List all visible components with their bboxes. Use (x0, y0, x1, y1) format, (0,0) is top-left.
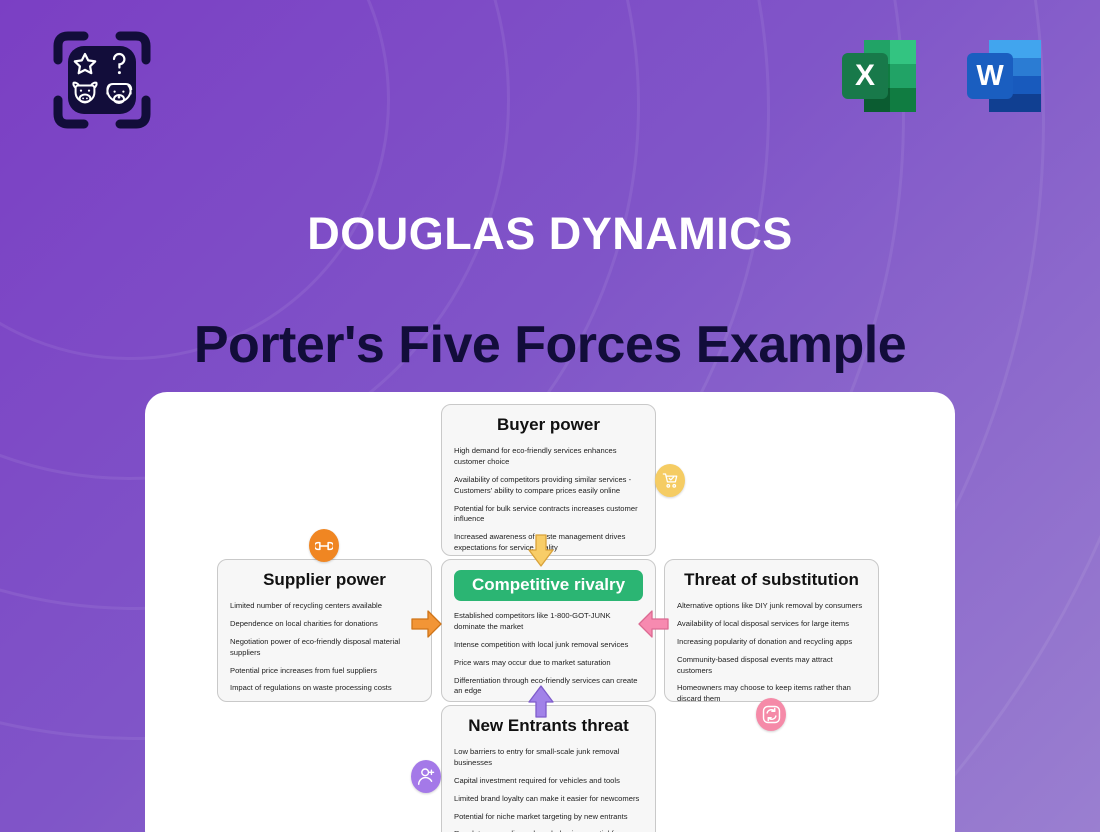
list-item: Capital investment required for vehicles… (454, 776, 643, 787)
force-points-list: Alternative options like DIY junk remova… (677, 601, 866, 704)
arrow-down-buyer-to-rivalry-icon (525, 534, 557, 568)
list-item: Negotiation power of eco-friendly dispos… (230, 637, 419, 659)
list-item: Price wars may occur due to market satur… (454, 658, 643, 669)
qr-frame-logo[interactable] (50, 28, 154, 132)
list-item: Impact of regulations on waste processin… (230, 683, 419, 694)
list-item: Availability of local disposal services … (677, 619, 866, 630)
list-item: Low barriers to entry for small-scale ju… (454, 747, 643, 769)
force-points-list: Low barriers to entry for small-scale ju… (454, 747, 643, 832)
svg-text:W: W (976, 60, 1004, 92)
office-app-icons: X W (832, 28, 1052, 128)
force-title: Buyer power (454, 415, 643, 435)
list-item: Increasing popularity of donation and re… (677, 637, 866, 648)
list-item: Intense competition with local junk remo… (454, 640, 643, 651)
force-box-threat-of-substitution[interactable]: Threat of substitution Alternative optio… (664, 559, 879, 702)
refresh-sync-icon[interactable] (756, 698, 786, 731)
force-title: Competitive rivalry (454, 570, 643, 601)
force-box-competitive-rivalry[interactable]: Competitive rivalry Established competit… (441, 559, 656, 702)
force-title: New Entrants threat (454, 716, 643, 736)
slide-canvas: X W DOUGLAS DYNAMICS Porter's Five Force… (0, 0, 1100, 832)
arrow-left-substitution-to-rivalry-icon (637, 609, 669, 639)
list-item: Limited brand loyalty can make it easier… (454, 794, 643, 805)
diagram-card: Buyer power High demand for eco-friendly… (145, 392, 955, 832)
list-item: Alternative options like DIY junk remova… (677, 601, 866, 612)
list-item: Limited number of recycling centers avai… (230, 601, 419, 612)
list-item: Established competitors like 1-800-GOT-J… (454, 611, 643, 633)
svg-text:X: X (855, 59, 875, 92)
page-title: Porter's Five Forces Example (0, 315, 1100, 375)
force-title: Threat of substitution (677, 570, 866, 590)
list-item: Dependence on local charities for donati… (230, 619, 419, 630)
list-item: Potential for bulk service contracts inc… (454, 504, 643, 526)
force-box-new-entrants-threat[interactable]: New Entrants threat Low barriers to entr… (441, 705, 656, 832)
add-user-icon[interactable] (411, 760, 441, 793)
list-item: High demand for eco-friendly services en… (454, 446, 643, 468)
microsoft-word-icon[interactable]: W (957, 28, 1052, 128)
list-item: Potential price increases from fuel supp… (230, 666, 419, 677)
link-chain-icon[interactable] (309, 529, 339, 562)
list-item: Potential for niche market targeting by … (454, 812, 643, 823)
force-title: Supplier power (230, 570, 419, 590)
arrow-up-entrants-to-rivalry-icon (525, 684, 557, 718)
microsoft-excel-icon[interactable]: X (832, 28, 927, 128)
shopping-cart-icon[interactable] (655, 464, 685, 497)
force-box-supplier-power[interactable]: Supplier power Limited number of recycli… (217, 559, 432, 702)
list-item: Availability of competitors providing si… (454, 475, 643, 497)
arrow-right-supplier-to-rivalry-icon (411, 609, 443, 639)
list-item: Community-based disposal events may attr… (677, 655, 866, 677)
brand-title: DOUGLAS DYNAMICS (0, 208, 1100, 260)
force-points-list: Limited number of recycling centers avai… (230, 601, 419, 694)
